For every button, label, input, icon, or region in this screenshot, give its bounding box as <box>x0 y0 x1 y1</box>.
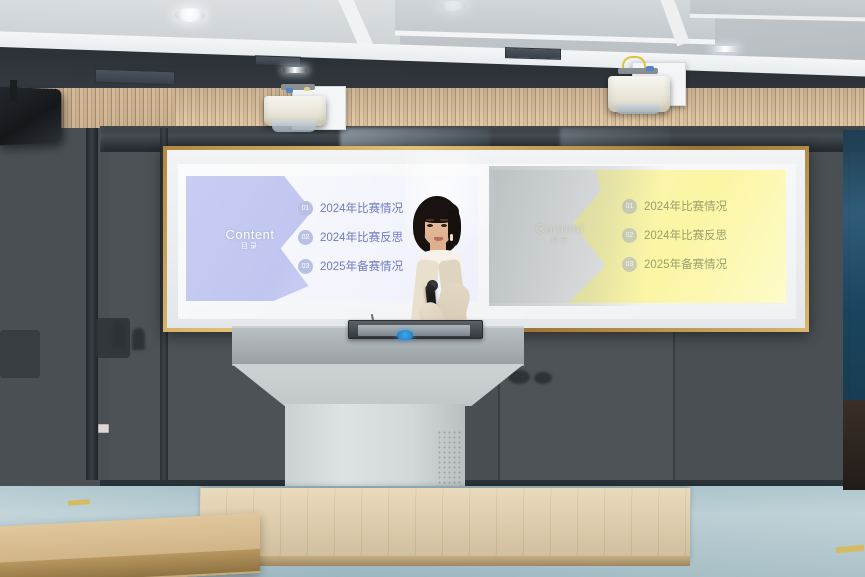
presenter-earring <box>450 234 453 241</box>
slide-right-toc-item: 01 2024年比赛情况 <box>622 198 727 214</box>
projector-right-lens-icon <box>616 104 660 114</box>
reflection-blob <box>534 372 552 384</box>
slide-right-heading: Content 目录 <box>511 222 609 244</box>
speaker-bracket <box>10 80 17 102</box>
console-indicator-icon <box>397 330 413 340</box>
slide-right: Content 目录 01 2024年比赛情况 02 2024年比赛反思 03 … <box>489 170 786 303</box>
projector-left-cable <box>286 88 293 93</box>
ceiling-downlight-icon <box>440 1 466 11</box>
ceiling-vent <box>255 55 301 66</box>
projector-right-cable <box>646 66 654 71</box>
presenter-eye <box>427 224 433 227</box>
slide-left-toc-number: 01 <box>298 201 313 216</box>
presenter-eyebrow <box>440 219 448 221</box>
slide-left-heading: Content 目录 <box>204 228 296 250</box>
ceiling-vent <box>505 47 561 60</box>
lectern-console-screen[interactable] <box>358 325 470 336</box>
slide-right-toc: 01 2024年比赛情况 02 2024年比赛反思 03 2025年备赛情况 <box>622 198 727 272</box>
presenter-hair-side <box>414 210 425 244</box>
slide-right-toc-label: 2025年备赛情况 <box>644 256 727 272</box>
slide-left-heading-zh: 目录 <box>204 243 296 250</box>
wall-mullion <box>86 128 98 480</box>
presenter-mouth <box>434 237 443 241</box>
slide-right-heading-zh: 目录 <box>511 237 609 244</box>
slide-right-toc-number: 03 <box>622 257 637 272</box>
chair <box>0 330 40 378</box>
wall-reflection <box>560 128 670 148</box>
stage-platform-edge <box>200 556 690 566</box>
slide-right-toc-number: 01 <box>622 199 637 214</box>
presenter-eyebrow <box>426 219 434 221</box>
slide-left-heading-en: Content <box>204 228 296 242</box>
chair <box>96 318 130 358</box>
presenter-eye <box>441 224 447 227</box>
wall-outlet-icon <box>98 424 109 433</box>
projector-left-lens-icon <box>272 120 316 132</box>
wall-poster-lower <box>843 400 865 490</box>
ceiling-panel-right <box>690 0 865 22</box>
slide-right-toc-label: 2024年比赛反思 <box>644 227 727 243</box>
slide-right-toc-label: 2024年比赛情况 <box>644 198 727 214</box>
slide-right-heading-en: Content <box>511 222 609 236</box>
projector-left-cable <box>304 87 310 91</box>
slide-right-toc-item: 03 2025年备赛情况 <box>622 256 727 272</box>
ceiling-downlight-icon <box>175 8 205 22</box>
slide-right-toc-number: 02 <box>622 228 637 243</box>
slide-left-toc-number: 02 <box>298 230 313 245</box>
slide-left-toc-number: 03 <box>298 259 313 274</box>
slide-right-toc-item: 02 2024年比赛反思 <box>622 227 727 243</box>
photo-scene: Content 目录 01 2024年比赛情况 02 2024年比赛反思 03 … <box>0 0 865 577</box>
ceiling-vent <box>95 69 175 86</box>
stage-platform <box>200 488 691 562</box>
reflection-blob <box>132 328 145 350</box>
strip-light-icon <box>283 67 307 73</box>
strip-light-icon <box>711 46 739 52</box>
wall-reflection <box>340 128 490 148</box>
